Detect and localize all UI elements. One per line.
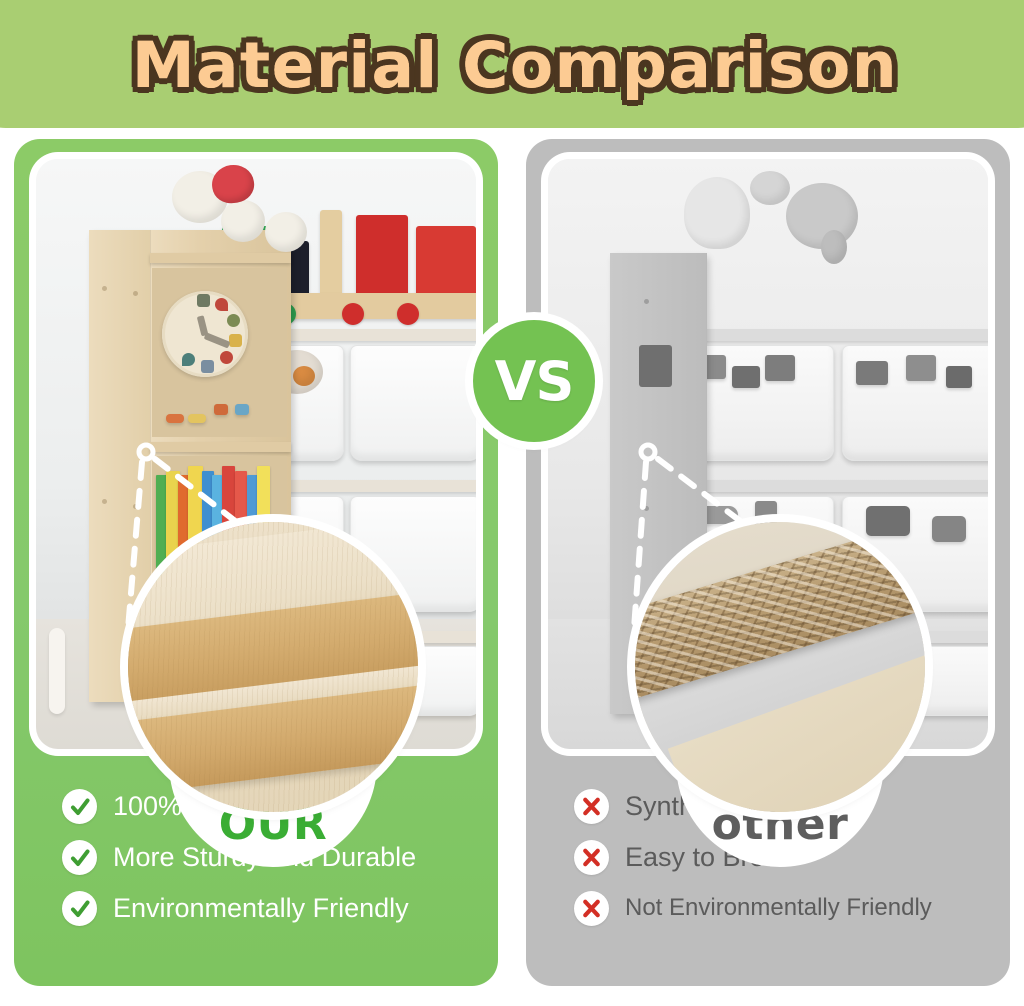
bookcase-shelf bbox=[150, 442, 292, 452]
our-material-zoom bbox=[128, 522, 418, 812]
cabinet-handle-slot bbox=[639, 345, 672, 386]
check-icon bbox=[62, 840, 97, 875]
toy-wheel bbox=[342, 303, 364, 325]
shelf-plank bbox=[672, 480, 988, 492]
plush-bunny-ear bbox=[221, 200, 265, 242]
toy-block bbox=[732, 366, 760, 388]
fox-face bbox=[293, 366, 315, 386]
toy-block bbox=[856, 361, 888, 385]
toy-block bbox=[906, 355, 936, 381]
toy-block bbox=[356, 215, 408, 298]
toy-block bbox=[765, 355, 795, 381]
plush-bunny-ear bbox=[265, 212, 307, 252]
plush-toy bbox=[684, 177, 750, 249]
vs-label: VS bbox=[495, 350, 574, 413]
toy-clock bbox=[162, 291, 248, 377]
title-banner: Material Comparison bbox=[0, 0, 1024, 128]
cross-icon bbox=[574, 789, 609, 824]
check-icon bbox=[62, 891, 97, 926]
plush-toy bbox=[750, 171, 790, 205]
other-label-text: other bbox=[712, 803, 849, 867]
decor-object bbox=[49, 628, 65, 714]
particle-board-closeup bbox=[635, 522, 925, 812]
toy-block bbox=[416, 226, 476, 299]
toy-controller bbox=[932, 516, 966, 542]
toy-block bbox=[946, 366, 972, 388]
bookcase-shelf bbox=[150, 253, 292, 263]
toy-disc bbox=[166, 414, 184, 423]
vs-badge: VS bbox=[473, 320, 595, 442]
feature-label: Not Environmentally Friendly bbox=[625, 895, 932, 921]
toy-block bbox=[214, 404, 228, 415]
our-label-text: OUR bbox=[219, 803, 328, 867]
toy-block bbox=[235, 404, 249, 415]
cross-icon bbox=[574, 891, 609, 926]
toy-wheel bbox=[397, 303, 419, 325]
feature-label: Environmentally Friendly bbox=[113, 894, 409, 924]
solid-wood-closeup bbox=[128, 522, 418, 812]
storage-bin bbox=[350, 345, 476, 461]
check-icon bbox=[62, 789, 97, 824]
page-title: Material Comparison bbox=[132, 29, 898, 102]
toy-block bbox=[320, 210, 342, 298]
plush-elephant-trunk bbox=[821, 230, 847, 264]
toy-disc bbox=[188, 414, 206, 423]
feature-item: Environmentally Friendly bbox=[62, 891, 498, 926]
shelf-plank bbox=[672, 329, 988, 341]
other-material-zoom bbox=[635, 522, 925, 812]
feature-item: Not Environmentally Friendly bbox=[574, 891, 1010, 926]
cross-icon bbox=[574, 840, 609, 875]
